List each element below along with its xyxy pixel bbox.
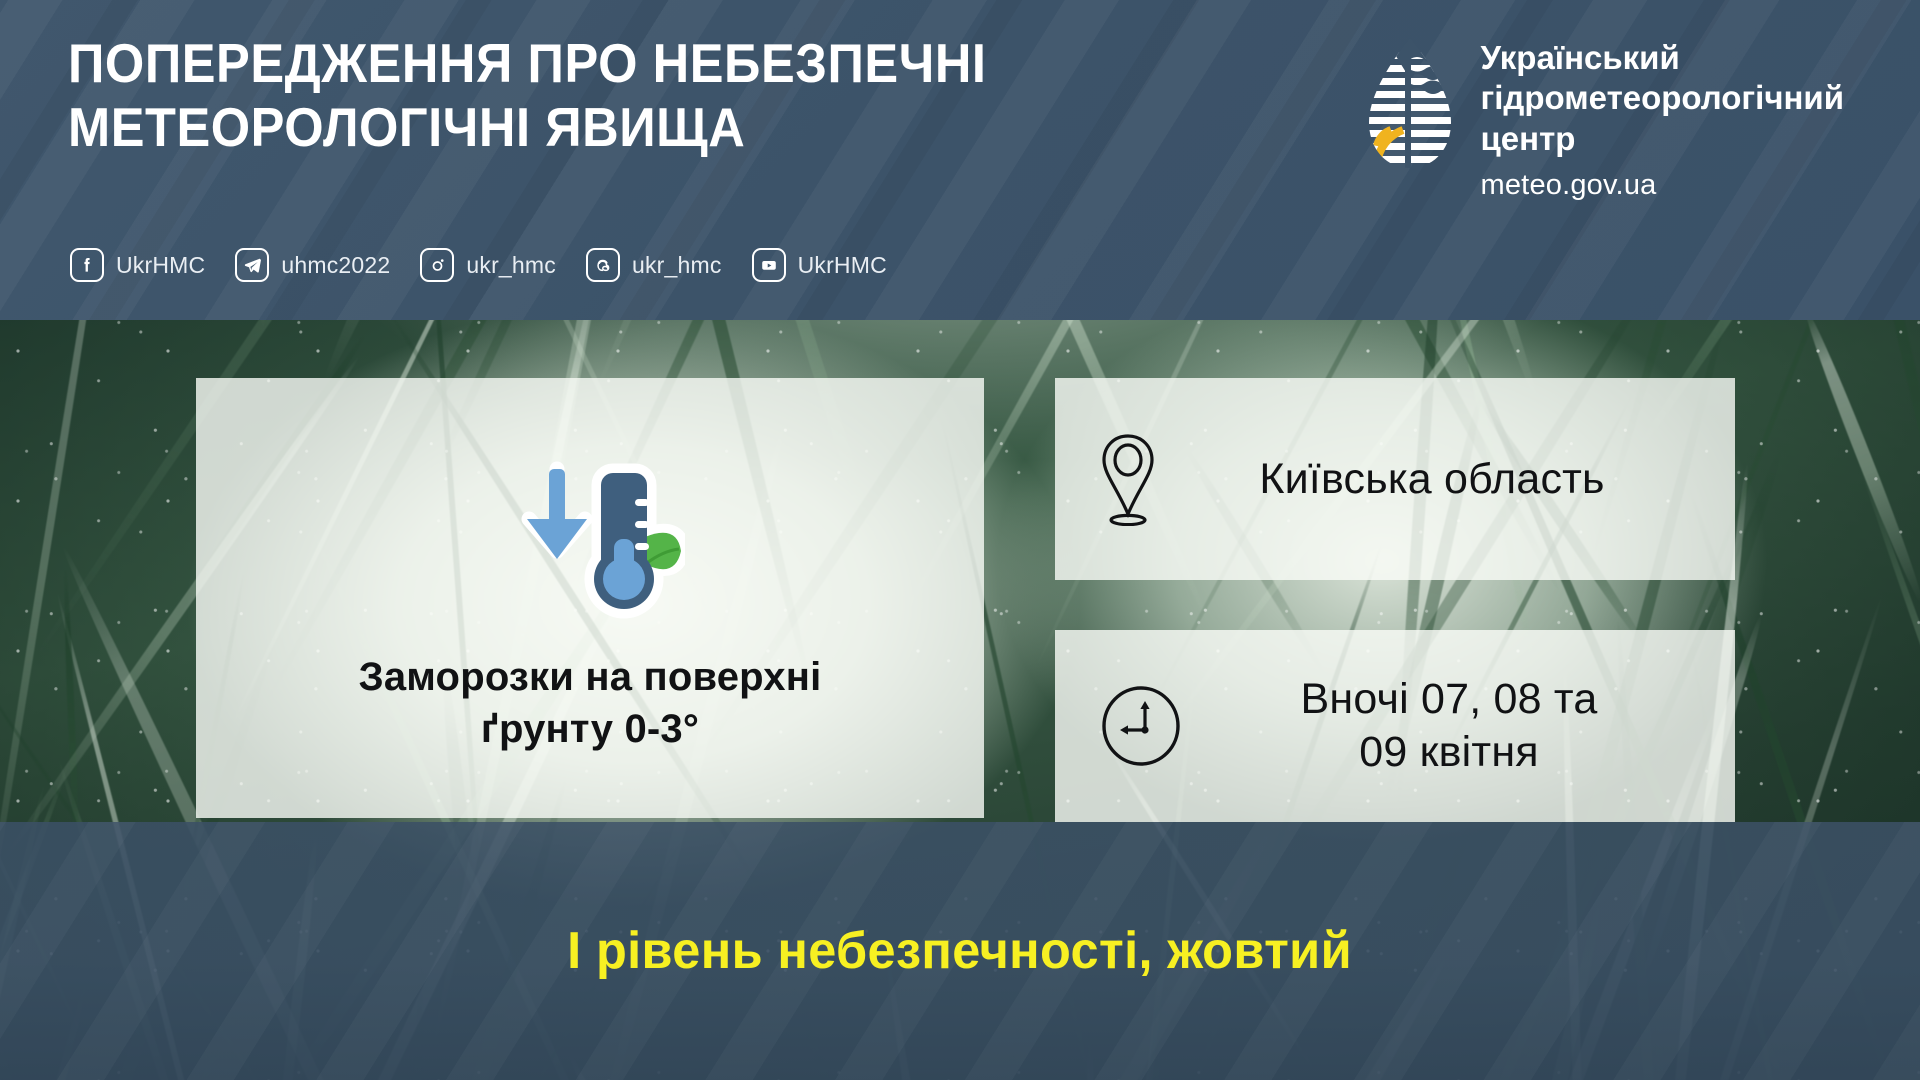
hazard-description: Заморозки на поверхні ґрунту 0-3° (359, 651, 822, 755)
social-handle-youtube: UkrHMC (798, 252, 887, 279)
organization-logo-block: Український гідрометеорологічний центр m… (1361, 34, 1845, 202)
facebook-icon (70, 248, 104, 282)
time-description-line-2: 09 квітня (1191, 726, 1707, 779)
low-temperature-thermometer-leaf-icon (495, 443, 685, 633)
social-link-telegram[interactable]: uhmc2022 (235, 248, 390, 282)
region-name: Київська область (1157, 455, 1701, 504)
danger-level-text: І рівень небезпечності, жовтий (568, 921, 1353, 981)
organization-name: Український гідрометеорологічний центр (1481, 38, 1845, 159)
weather-warning-poster: ПОПЕРЕДЖЕННЯ ПРО НЕБЕЗПЕЧНІ МЕТЕОРОЛОГІЧ… (0, 0, 1920, 1080)
social-link-youtube[interactable]: UkrHMC (752, 248, 887, 282)
hazard-card: Заморозки на поверхні ґрунту 0-3° (196, 378, 984, 818)
water-droplet-mountain-waves-logo-icon (1361, 34, 1459, 174)
header-band: ПОПЕРЕДЖЕННЯ ПРО НЕБЕЗПЕЧНІ МЕТЕОРОЛОГІЧ… (0, 0, 1920, 320)
organization-name-line-2: гідрометеорологічний (1481, 78, 1845, 118)
map-pin-icon (1099, 432, 1157, 526)
footer-band: І рівень небезпечності, жовтий (0, 822, 1920, 1080)
page-title: ПОПЕРЕДЖЕННЯ ПРО НЕБЕЗПЕЧНІ МЕТЕОРОЛОГІЧ… (68, 32, 1126, 160)
hazard-description-line-2: ґрунту 0-3° (359, 703, 822, 755)
social-links-row: UkrHMC uhmc2022 ukr_hmc (70, 248, 917, 282)
social-handle-telegram: uhmc2022 (281, 252, 390, 279)
telegram-icon (235, 248, 269, 282)
youtube-icon (752, 248, 786, 282)
region-card: Київська область (1055, 378, 1735, 580)
threads-icon (586, 248, 620, 282)
social-link-threads[interactable]: ukr_hmc (586, 248, 722, 282)
clock-icon (1099, 684, 1183, 768)
time-description: Вночі 07, 08 та 09 квітня (1183, 673, 1707, 780)
social-link-instagram[interactable]: ukr_hmc (420, 248, 556, 282)
page-title-line-1: ПОПЕРЕДЖЕННЯ ПРО НЕБЕЗПЕЧНІ (68, 32, 1126, 96)
page-title-line-2: МЕТЕОРОЛОГІЧНІ ЯВИЩА (68, 96, 1126, 160)
social-link-facebook[interactable]: UkrHMC (70, 248, 205, 282)
social-handle-threads: ukr_hmc (632, 252, 722, 279)
instagram-icon (420, 248, 454, 282)
time-description-line-1: Вночі 07, 08 та (1191, 673, 1707, 726)
hazard-description-line-1: Заморозки на поверхні (359, 651, 822, 703)
organization-name-line-1: Український (1481, 38, 1845, 78)
social-handle-instagram: ukr_hmc (466, 252, 556, 279)
time-card: Вночі 07, 08 та 09 квітня (1055, 630, 1735, 822)
organization-website[interactable]: meteo.gov.ua (1481, 169, 1845, 202)
social-handle-facebook: UkrHMC (116, 252, 205, 279)
organization-name-line-3: центр (1481, 119, 1845, 159)
